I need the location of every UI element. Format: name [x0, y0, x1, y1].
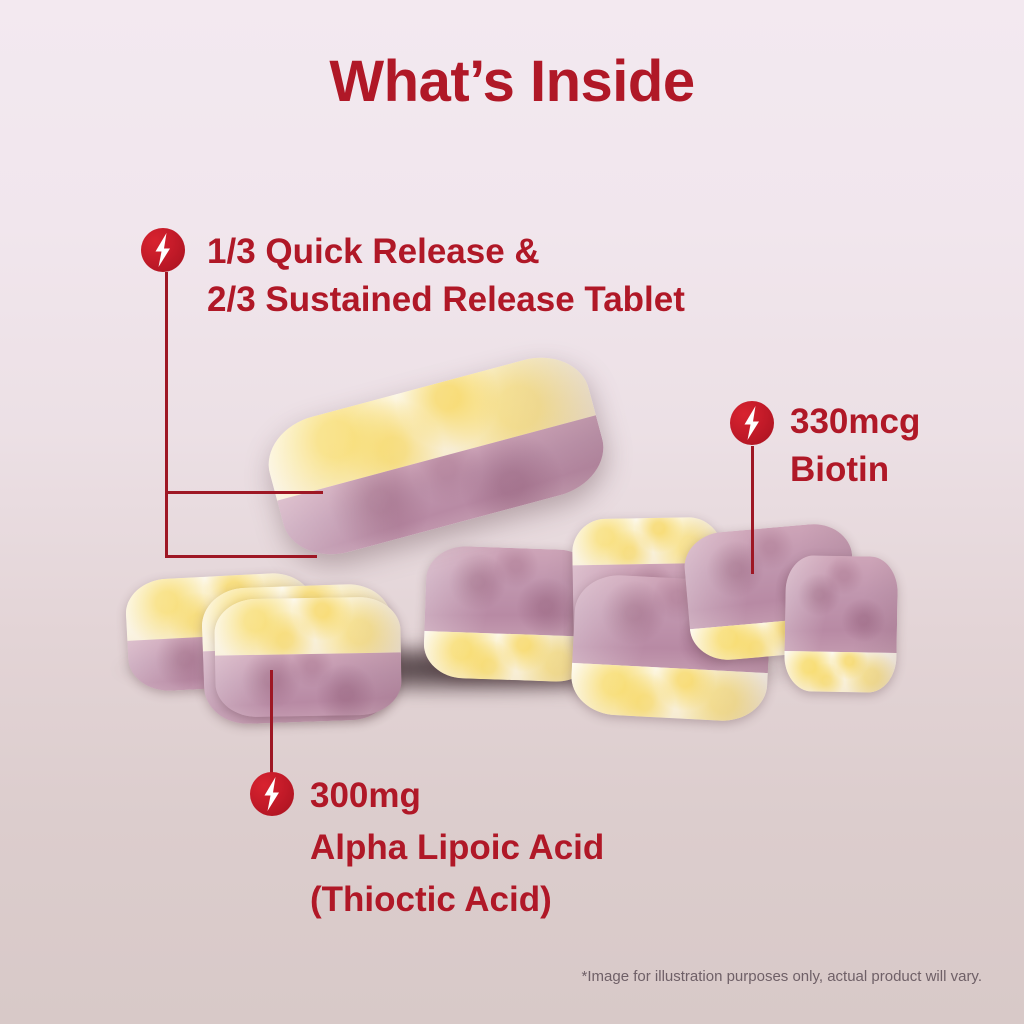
callout-release-line-1: 1/3 Quick Release & — [207, 228, 685, 276]
callout-ala-line-3: (Thioctic Acid) — [310, 874, 604, 926]
callout-release: 1/3 Quick Release & 2/3 Sustained Releas… — [207, 228, 685, 324]
callout-release-line-2: 2/3 Sustained Release Tablet — [207, 276, 685, 324]
lightning-badge-biotin — [730, 401, 774, 445]
callout-biotin: 330mcg Biotin — [790, 398, 920, 494]
lightning-bolt-icon — [141, 228, 185, 272]
lightning-badge-release — [141, 228, 185, 272]
tablet-hero-tilted — [259, 346, 614, 567]
callout-biotin-line-1: 330mcg — [790, 398, 920, 446]
leader-line-release-vertical — [165, 272, 168, 558]
leader-line-alpha-lipoic-acid — [270, 670, 273, 778]
tablet-front-left — [214, 596, 402, 717]
callout-ala-line-2: Alpha Lipoic Acid — [310, 822, 604, 874]
page-title: What’s Inside — [0, 48, 1024, 115]
lightning-badge-alpha-lipoic-acid — [250, 772, 294, 816]
leader-line-biotin — [751, 446, 754, 574]
tablet-right-edge — [784, 555, 898, 693]
leader-line-release-upper — [165, 491, 323, 494]
lightning-bolt-icon — [730, 401, 774, 445]
lightning-bolt-icon — [250, 772, 294, 816]
callout-biotin-line-2: Biotin — [790, 446, 920, 494]
leader-line-release-lower — [165, 555, 317, 558]
callout-ala-line-1: 300mg — [310, 770, 604, 822]
infographic-canvas: What’s Inside — [0, 0, 1024, 1024]
callout-alpha-lipoic-acid: 300mg Alpha Lipoic Acid (Thioctic Acid) — [310, 770, 604, 926]
disclaimer-text: *Image for illustration purposes only, a… — [582, 968, 982, 985]
